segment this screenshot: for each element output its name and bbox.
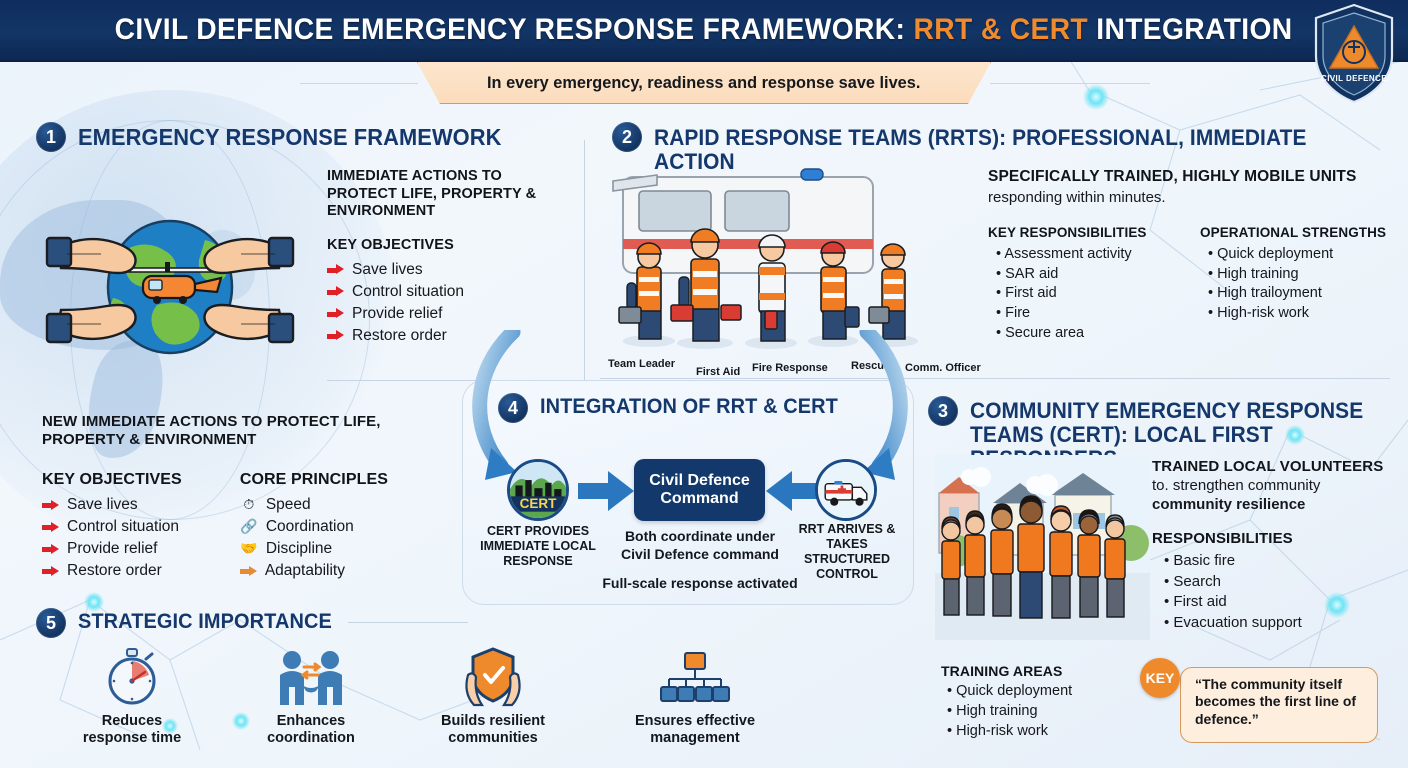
label-line-2: management	[620, 730, 770, 747]
list-item: Search	[1164, 572, 1400, 593]
section-1b-principles-column: CORE PRINCIPLES ⏱Speed 🔗Coordination 🤝Di…	[240, 470, 388, 583]
center-caption-1: Both coordinate under	[611, 528, 789, 546]
principle-label: Coordination	[266, 516, 354, 538]
section-2-responsibilities-column: KEY RESPONSIBILITIES Assessment activity…	[988, 225, 1178, 344]
org-chart-icon	[620, 645, 770, 707]
cert-node-label: CERT	[520, 496, 558, 511]
strategic-item-reduces-response-time: Reduces response time	[57, 645, 207, 748]
arrow-right-icon	[327, 308, 344, 319]
strategic-item-builds-resilient-communities: Builds resilient communities	[418, 645, 568, 748]
ambulance-node-icon	[815, 459, 877, 521]
section-1-title: Emergency Response Framework	[78, 122, 502, 150]
section-2-responsibilities-list: Assessment activity SAR aid First aid Fi…	[988, 245, 1178, 344]
principle-label: Adaptability	[265, 560, 345, 582]
arrow-right-icon	[327, 264, 344, 275]
arrow-right-icon	[327, 286, 344, 297]
arrow-right-icon	[42, 522, 59, 533]
list-item: ⏱Speed	[240, 494, 388, 516]
list-item: High-risk work	[947, 722, 1131, 742]
rapid-response-team-illustration	[605, 165, 985, 355]
arrow-right-icon	[42, 566, 59, 577]
section-2-lead-bold: SPECIFICALLY TRAINED, HIGHLY MOBILE UNIT…	[988, 168, 1398, 187]
section-1-text-block: IMMEDIATE ACTIONS TO PROTECT LIFE, PROPE…	[327, 168, 557, 347]
arrow-right-icon	[42, 500, 59, 511]
list-item: Assessment activity	[996, 245, 1178, 265]
strategic-item-enhances-coordination: Enhances coordination	[236, 645, 386, 748]
section-3-text-block: TRAINED LOCAL VOLUNTEERS to. strengthen …	[1152, 458, 1400, 633]
section-4-title: Integration of RRT & CERT	[540, 393, 838, 419]
list-item: Control situation	[327, 281, 557, 303]
objective-label: Save lives	[352, 259, 423, 281]
label-line-1: Builds resilient	[418, 713, 568, 730]
section-3-training-title: TRAINING AREAS	[941, 663, 1131, 680]
list-item: First aid	[1164, 592, 1400, 613]
list-item: Quick deployment	[947, 682, 1131, 702]
list-item: Secure area	[996, 324, 1178, 344]
objective-label: Control situation	[352, 281, 464, 303]
hands-protecting-globe-illustration	[45, 180, 295, 395]
objective-label: Save lives	[67, 494, 138, 516]
objective-label: Restore order	[352, 325, 447, 347]
link-icon: 🔗	[240, 517, 258, 537]
list-item: Evacuation support	[1164, 613, 1400, 634]
label-line-1: Ensures effective	[620, 713, 770, 730]
section-4-number: 4	[498, 393, 528, 423]
section-3-lead-rest: to. strengthen community	[1152, 477, 1400, 495]
section-1b-objectives-list: Save lives Control situation Provide rel…	[42, 494, 182, 582]
section-1b-principles-list: ⏱Speed 🔗Coordination 🤝Discipline Adaptab…	[240, 494, 388, 582]
command-box-line2: Command	[649, 490, 749, 508]
stopwatch-icon	[57, 645, 207, 707]
section-2-strengths-column: OPERATIONAL STRENGTHS Quick deployment H…	[1200, 225, 1390, 344]
strategic-item-label: Builds resilient communities	[418, 713, 568, 748]
label-line-1: Reduces	[57, 713, 207, 730]
handshake-icon: 🤝	[240, 539, 258, 559]
label-line-2: communities	[418, 730, 568, 747]
section-3-lead-bold2: community resilience	[1152, 496, 1400, 514]
section-1b-objectives-title: KEY OBJECTIVES	[42, 470, 182, 490]
list-item: Adaptability	[240, 560, 388, 582]
section-4-right-caption: RRT ARRIVES & TAKES STRUCTURED CONTROL	[791, 522, 903, 582]
section-1-heading: IMMEDIATE ACTIONS TO PROTECT LIFE, PROPE…	[327, 168, 557, 221]
list-item: Quick deployment	[1208, 245, 1390, 265]
section-1-header: 1 Emergency Response Framework	[36, 122, 556, 152]
strategic-item-ensures-effective-management: Ensures effective management	[620, 645, 770, 748]
section-5-number: 5	[36, 608, 66, 638]
badge-label-text: CIVIL DEFENCE	[1321, 74, 1387, 83]
list-item: First aid	[996, 284, 1178, 304]
arrow-right-icon	[240, 566, 257, 577]
shield-hands-icon	[418, 645, 568, 707]
section-1b-objectives-column: KEY OBJECTIVES Save lives Control situat…	[42, 470, 182, 583]
section-3-training-list: Quick deployment High training High-risk…	[941, 682, 1131, 742]
list-item: 🔗Coordination	[240, 516, 388, 538]
section-1b-heading: NEW IMMEDIATE ACTIONS TO PROTECT LIFE, P…	[42, 413, 462, 450]
list-item: Control situation	[42, 516, 182, 538]
objective-label: Provide relief	[352, 303, 442, 325]
section-4-center-caption-line3: Full-scale response activated	[592, 575, 808, 593]
strategic-item-label: Ensures effective management	[620, 713, 770, 748]
section-2-strengths-list: Quick deployment High training High trai…	[1200, 245, 1390, 324]
section-5-title: Strategic Importance	[78, 608, 332, 634]
section-3-responsibilities-title: RESPONSIBILITIES	[1152, 530, 1400, 548]
arrow-left-to-command-icon	[766, 470, 822, 512]
section-1b-block: NEW IMMEDIATE ACTIONS TO PROTECT LIFE, P…	[42, 413, 462, 582]
key-quote-box: “The community itself becomes the first …	[1180, 667, 1378, 743]
strategic-item-label: Reduces response time	[57, 713, 207, 748]
section-3-responsibilities-list: Basic fire Search First aid Evacuation s…	[1152, 551, 1400, 633]
arrow-right-icon	[42, 544, 59, 555]
list-item: High trailoyment	[1208, 284, 1390, 304]
label-line-2: response time	[57, 730, 207, 747]
section-3-training-block: TRAINING AREAS Quick deployment High tra…	[941, 663, 1131, 742]
list-item: Save lives	[42, 494, 182, 516]
list-item: SAR aid	[996, 265, 1178, 285]
list-item: 🤝Discipline	[240, 538, 388, 560]
objective-label: Provide relief	[67, 538, 157, 560]
section-4-center-caption-line1: Both coordinate under Civil Defence comm…	[611, 528, 789, 563]
section-3-lead-bold: TRAINED LOCAL VOLUNTEERS	[1152, 458, 1400, 476]
page-title-accent: RRT & CERT	[914, 13, 1089, 46]
list-item: High training	[947, 702, 1131, 722]
subtitle-ribbon: In every emergency, readiness and respon…	[417, 62, 991, 104]
section-1-number: 1	[36, 122, 66, 152]
community-volunteers-illustration	[935, 455, 1150, 640]
strategic-item-label: Enhances coordination	[236, 713, 386, 748]
list-item: Restore order	[42, 560, 182, 582]
cert-node-icon: CERT	[507, 459, 569, 521]
section-3-number: 3	[928, 396, 958, 426]
principle-label: Speed	[266, 494, 311, 516]
handshake-people-icon	[236, 645, 386, 707]
stopwatch-icon: ⏱	[240, 495, 258, 515]
section-2-responsibilities-title: KEY RESPONSIBILITIES	[988, 225, 1178, 241]
list-item: Fire	[996, 304, 1178, 324]
key-badge: KEY	[1140, 658, 1180, 698]
section-5-header: 5 Strategic Importance	[36, 608, 366, 638]
civil-defence-command-box: Civil Defence Command	[634, 459, 765, 521]
section-2-text-block: SPECIFICALLY TRAINED, HIGHLY MOBILE UNIT…	[988, 168, 1398, 344]
label-line-1: Enhances	[236, 713, 386, 730]
list-item: Provide relief	[327, 303, 557, 325]
section-2-lead-rest: responding within minutes.	[988, 189, 1398, 207]
page-title-post: Integration	[1088, 13, 1293, 46]
subtitle-text: In every emergency, readiness and respon…	[487, 73, 920, 93]
list-item: Provide relief	[42, 538, 182, 560]
section-1b-principles-title: CORE PRINCIPLES	[240, 470, 388, 490]
arrow-right-icon	[327, 330, 344, 341]
center-caption-2: Civil Defence command	[611, 546, 789, 564]
list-item: Save lives	[327, 259, 557, 281]
label-line-2: coordination	[236, 730, 386, 747]
page-header: Civil Defence Emergency Response Framewo…	[0, 0, 1408, 62]
command-box-line1: Civil Defence	[649, 472, 749, 490]
section-2-strengths-title: OPERATIONAL STRENGTHS	[1200, 225, 1390, 241]
section-1-objectives-title: KEY OBJECTIVES	[327, 237, 557, 255]
objective-label: Restore order	[67, 560, 162, 582]
section-4-left-caption: CERT PROVIDES IMMEDIATE LOCAL RESPONSE	[468, 524, 608, 569]
arrow-right-to-command-icon	[578, 470, 634, 512]
objective-label: Control situation	[67, 516, 179, 538]
principle-label: Discipline	[266, 538, 332, 560]
page-title-pre: Civil Defence Emergency Response Framewo…	[115, 13, 914, 46]
list-item: High training	[1208, 265, 1390, 285]
civil-defence-badge-icon: CIVIL DEFENCE	[1310, 2, 1398, 106]
page-title: Civil Defence Emergency Response Framewo…	[115, 13, 1293, 47]
section-2-number: 2	[612, 122, 642, 152]
section-4-header: 4 Integration of RRT & CERT	[498, 393, 898, 423]
list-item: Basic fire	[1164, 551, 1400, 572]
list-item: High-risk work	[1208, 304, 1390, 324]
